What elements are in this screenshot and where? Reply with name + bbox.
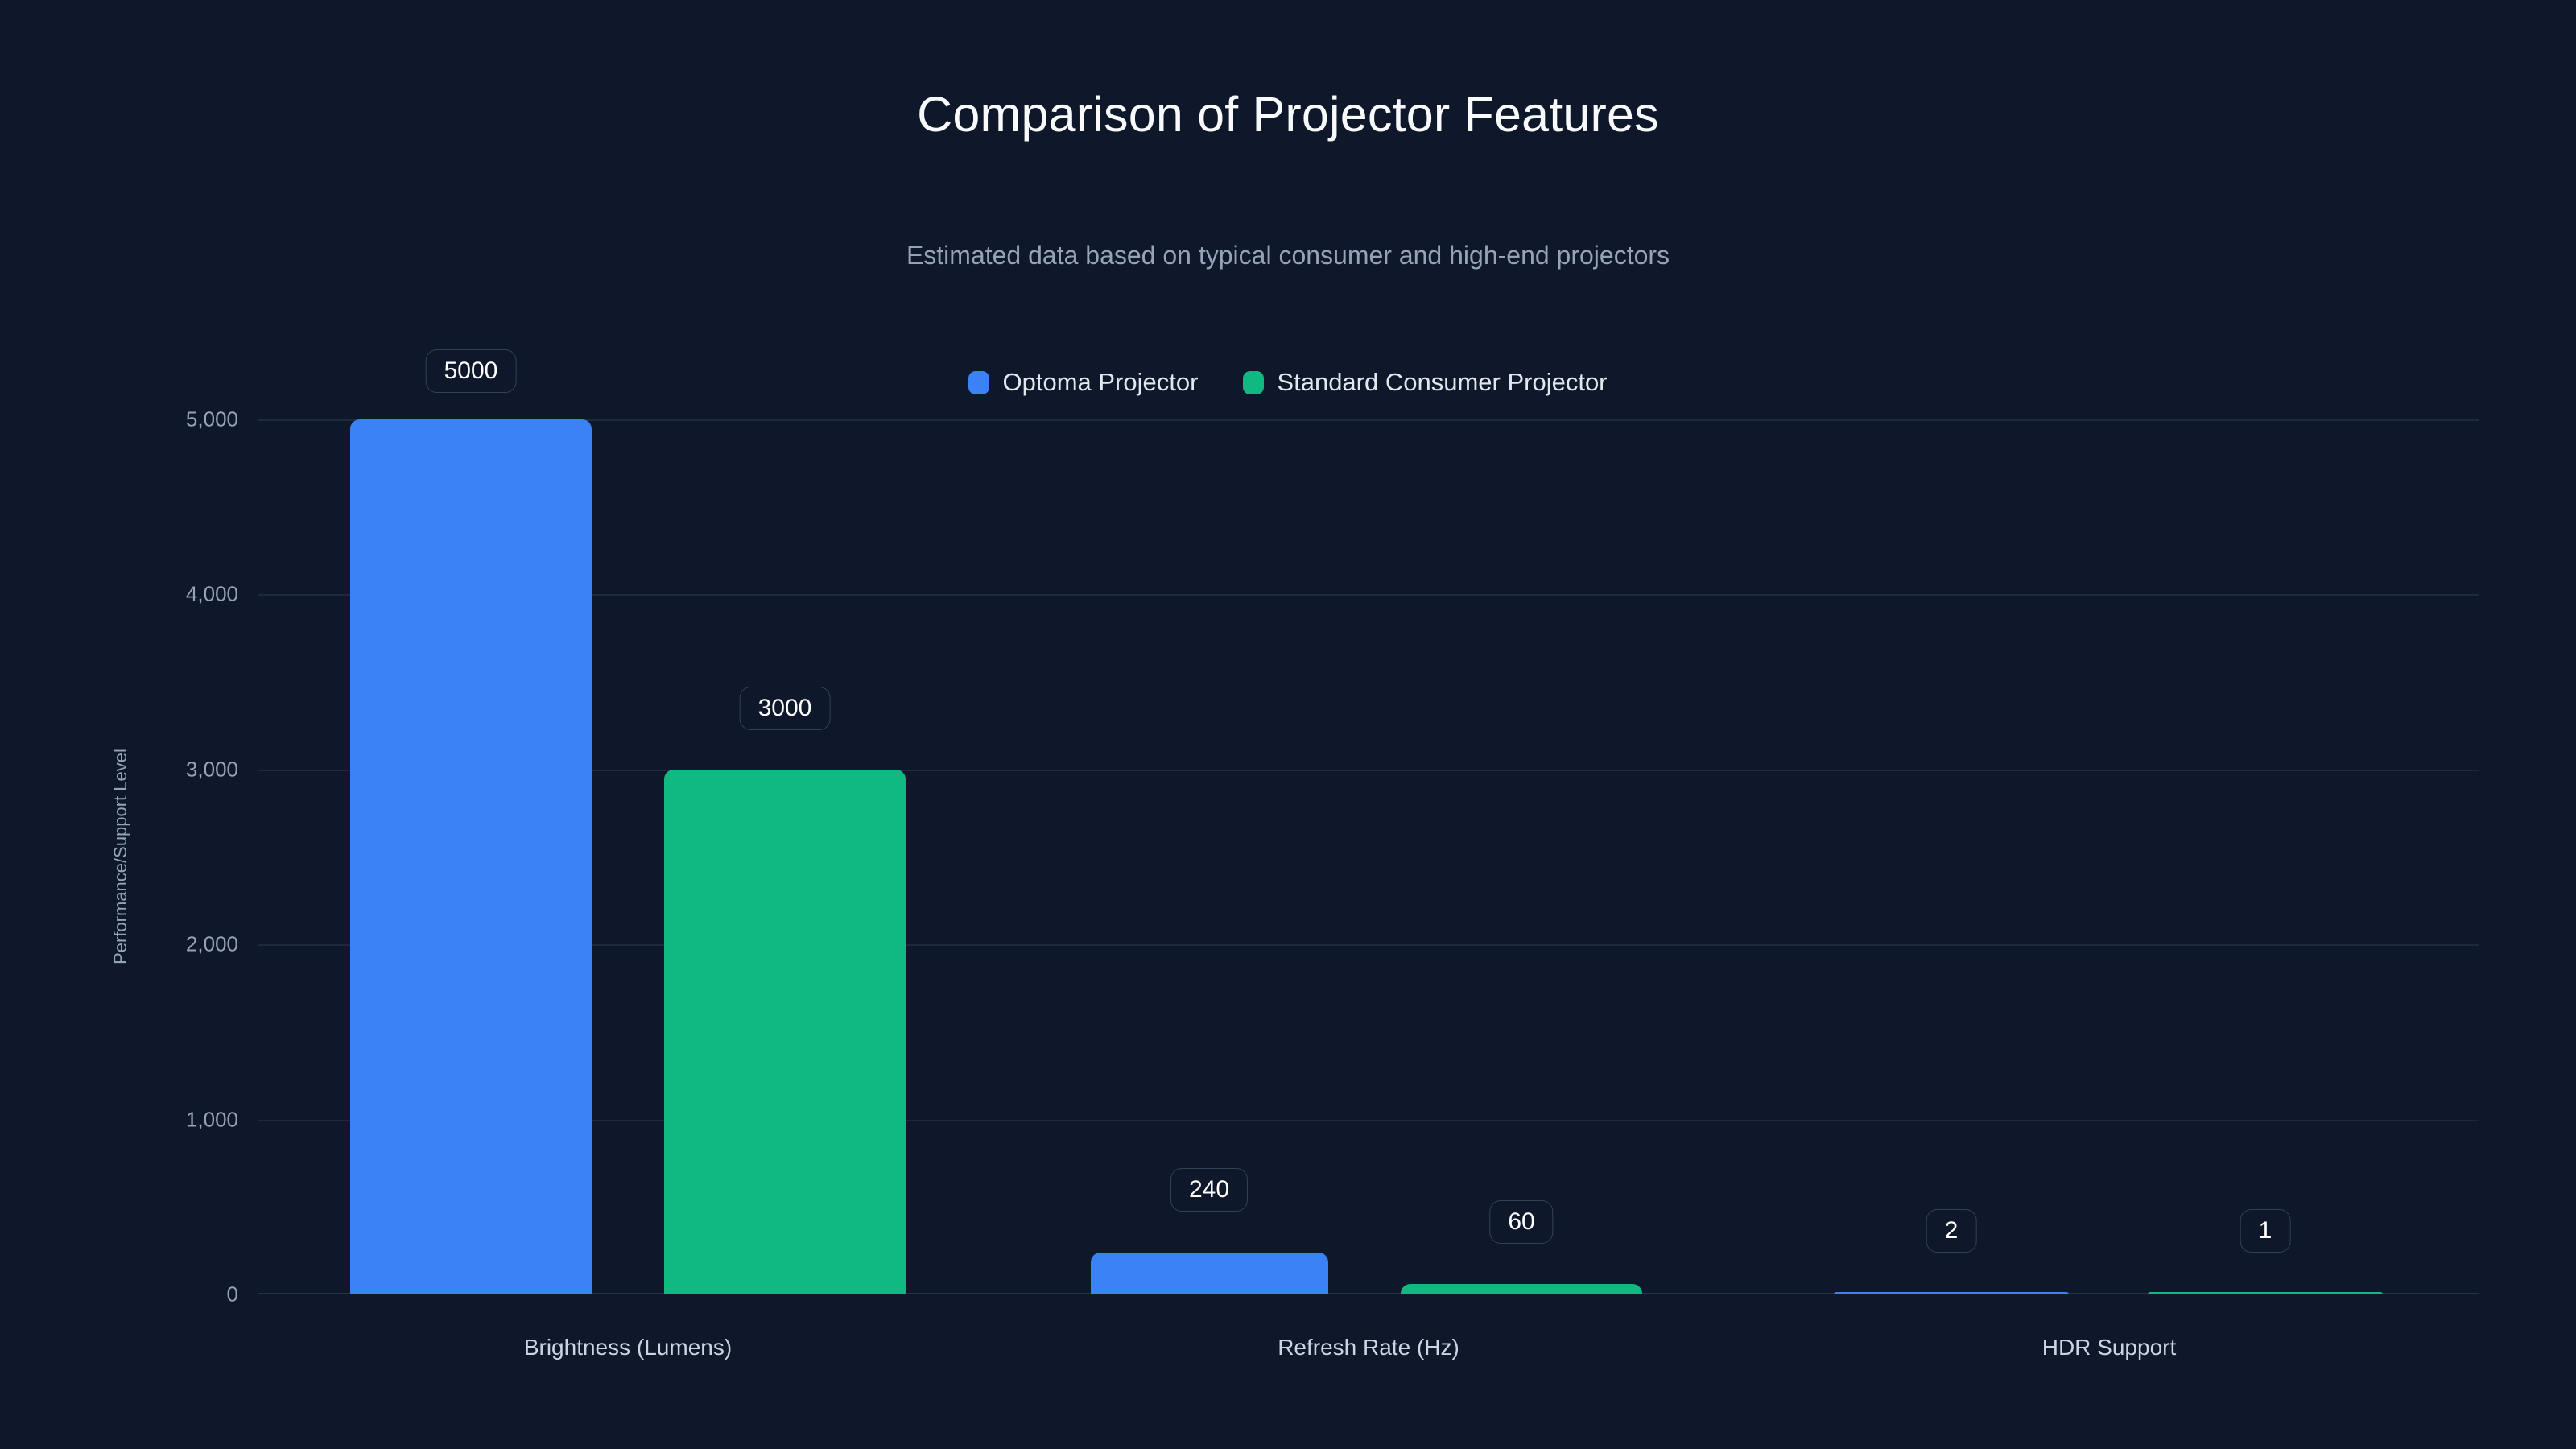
bar-standard-hdr-support[interactable] [2148,1292,2383,1294]
y-tick-label-5000: 5,000 [0,407,238,432]
value-label-standard-hdr-support: 1 [2240,1209,2291,1253]
value-label-optoma-brightness: 5000 [426,349,517,393]
legend-label-optoma-projector: Optoma Projector [1002,368,1198,397]
y-tick-label-0: 0 [0,1282,238,1307]
x-tick-label-brightness: Brightness (Lumens) [524,1335,732,1360]
bar-optoma-brightness[interactable] [350,419,592,1294]
x-tick-label-refresh-rate: Refresh Rate (Hz) [1278,1335,1459,1360]
y-tick-label-3000: 3,000 [0,758,238,782]
legend-swatch-blue-icon [968,371,989,394]
value-label-optoma-hdr-support: 2 [1926,1209,1977,1253]
y-tick-label-4000: 4,000 [0,582,238,607]
y-tick-label-2000: 2,000 [0,932,238,957]
legend-swatch-green-icon [1243,371,1264,394]
legend-label-standard-consumer-projector: Standard Consumer Projector [1277,368,1607,397]
bar-optoma-hdr-support[interactable] [1834,1292,2069,1294]
chart-canvas: Comparison of Projector Features Estimat… [0,0,2576,1449]
y-tick-label-1000: 1,000 [0,1108,238,1133]
chart-subtitle: Estimated data based on typical consumer… [0,241,2576,270]
bar-standard-refresh-rate[interactable] [1401,1284,1642,1294]
value-label-standard-brightness: 3000 [740,687,831,730]
gridline-5000 [258,419,2479,421]
plot-area: 5000 3000 240 60 2 1 Brightness (Lumens)… [258,419,2479,1294]
legend-item-standard-consumer-projector[interactable]: Standard Consumer Projector [1243,368,1607,397]
bar-optoma-refresh-rate[interactable] [1091,1253,1328,1294]
x-tick-label-hdr-support: HDR Support [2042,1335,2177,1360]
chart-title: Comparison of Projector Features [0,86,2576,142]
chart-legend: Optoma Projector Standard Consumer Proje… [0,368,2576,397]
value-label-standard-refresh-rate: 60 [1489,1200,1553,1244]
legend-item-optoma-projector[interactable]: Optoma Projector [968,368,1198,397]
bar-standard-brightness[interactable] [664,770,906,1294]
value-label-optoma-refresh-rate: 240 [1170,1168,1248,1212]
